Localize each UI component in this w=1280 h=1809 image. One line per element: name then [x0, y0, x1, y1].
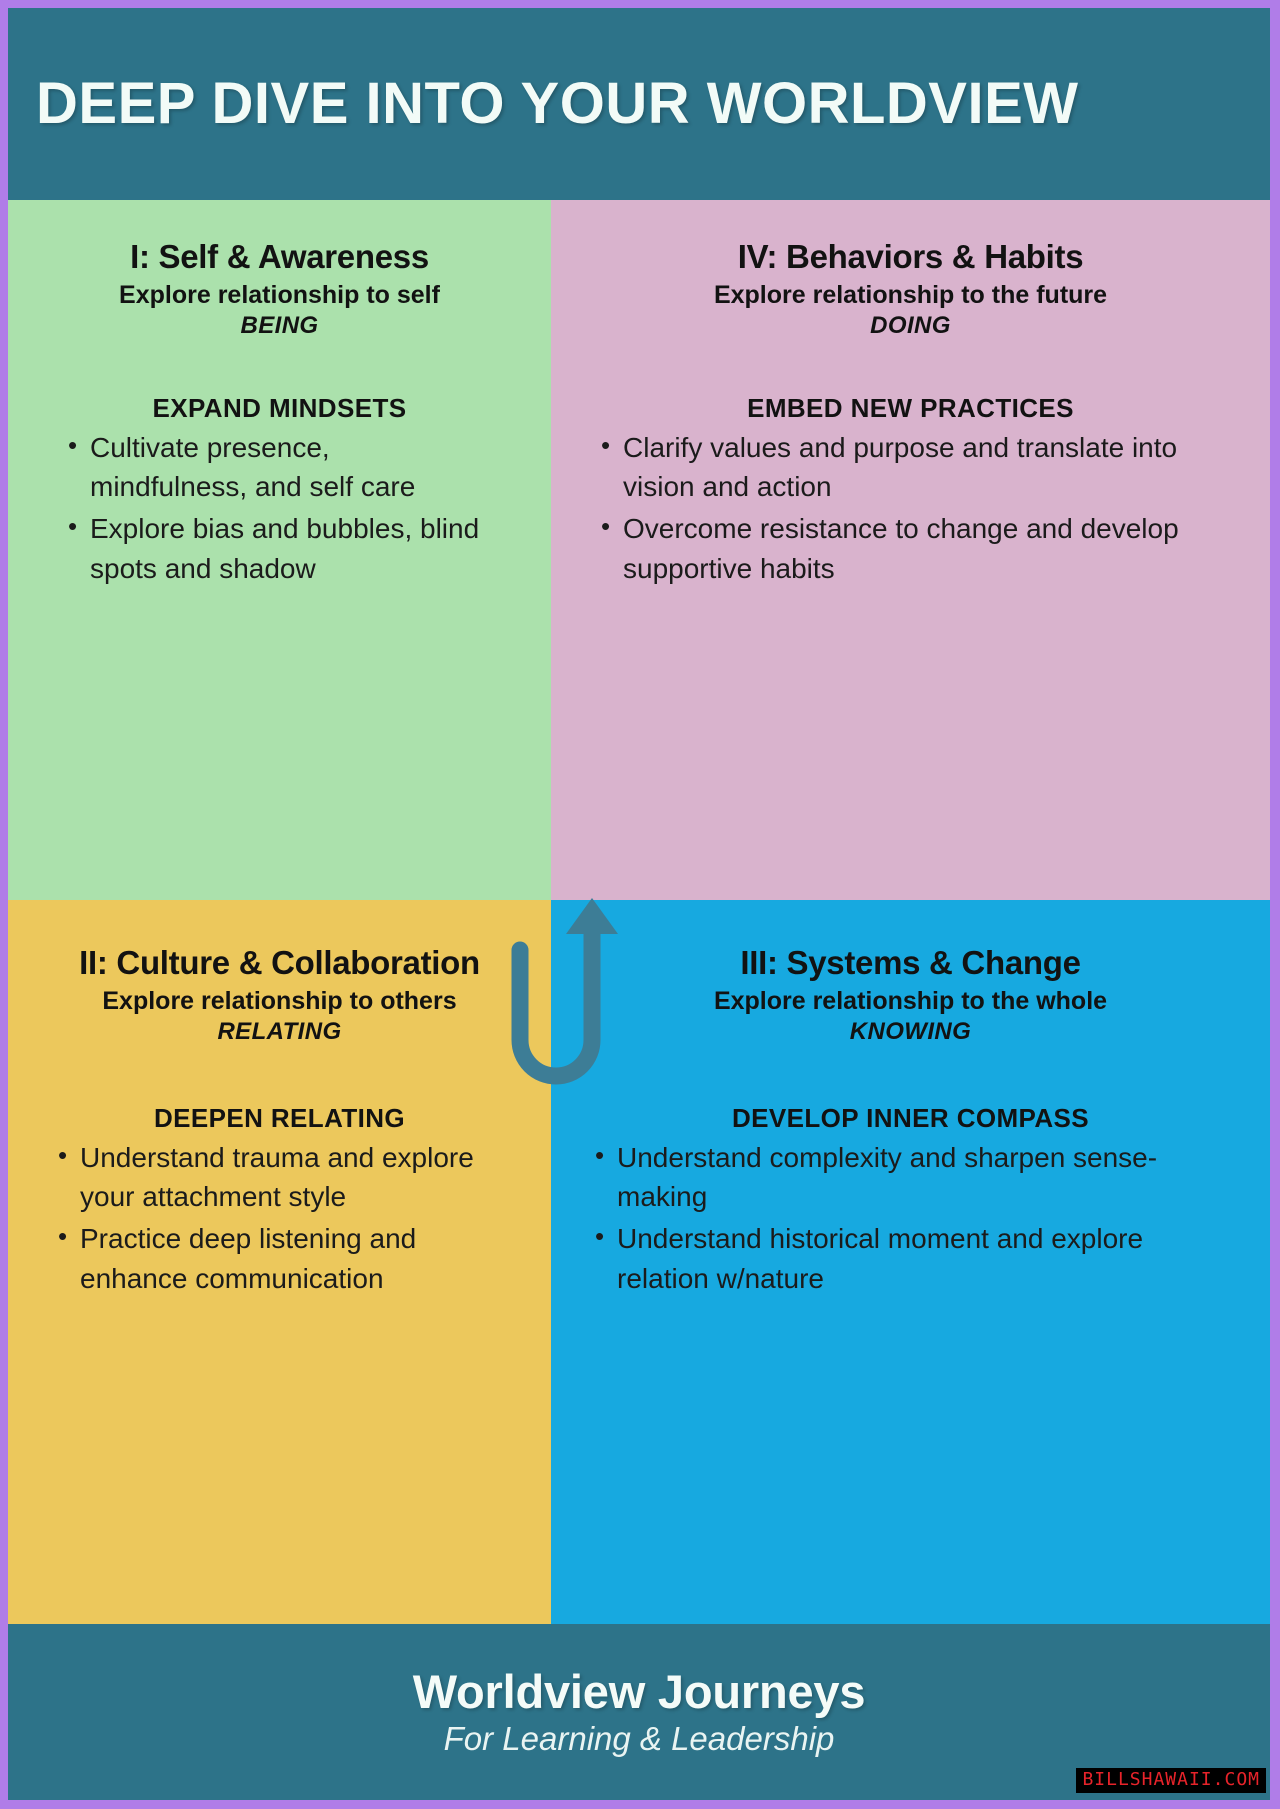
quadrant-action-heading: DEEPEN RELATING: [26, 1103, 533, 1134]
quadrant-action-heading: EMBED NEW PRACTICES: [569, 393, 1252, 424]
quadrant-mode: KNOWING: [569, 1018, 1252, 1047]
quadrant-self-and-awareness: I: Self & Awareness Explore relationship…: [8, 200, 551, 900]
header-band: DEEP DIVE INTO YOUR WORLDVIEW: [8, 8, 1270, 200]
quadrant-title: I: Self & Awareness: [26, 238, 533, 276]
quadrant-mode: RELATING: [26, 1018, 533, 1047]
quadrant-grid: I: Self & Awareness Explore relationship…: [8, 200, 1270, 1624]
quadrant-culture-and-collaboration: II: Culture & Collaboration Explore rela…: [8, 900, 551, 1624]
list-item: Understand trauma and explore your attac…: [46, 1138, 507, 1218]
quadrant-bullet-list: Clarify values and purpose and translate…: [589, 428, 1230, 589]
list-item: Cultivate presence, mindfulness, and sel…: [56, 428, 493, 508]
quadrant-bullet-list: Cultivate presence, mindfulness, and sel…: [56, 428, 493, 589]
worldview-infographic: DEEP DIVE INTO YOUR WORLDVIEW I: Self & …: [8, 8, 1270, 1800]
quadrant-bullet-list: Understand trauma and explore your attac…: [46, 1138, 507, 1299]
quadrant-bullet-list: Understand complexity and sharpen sense-…: [583, 1138, 1236, 1299]
brand-name: Worldview Journeys: [413, 1667, 866, 1716]
quadrant-action-heading: DEVELOP INNER COMPASS: [569, 1103, 1252, 1134]
list-item: Understand historical moment and explore…: [583, 1219, 1236, 1299]
poster-outer-frame: DEEP DIVE INTO YOUR WORLDVIEW I: Self & …: [0, 0, 1280, 1809]
brand-tagline: For Learning & Leadership: [444, 1722, 835, 1757]
quadrant-mode: BEING: [26, 312, 533, 341]
quadrant-systems-and-change: III: Systems & Change Explore relationsh…: [551, 900, 1270, 1624]
list-item: Overcome resistance to change and develo…: [589, 509, 1230, 589]
quadrant-action-heading: EXPAND MINDSETS: [26, 393, 533, 424]
page-title: DEEP DIVE INTO YOUR WORLDVIEW: [36, 74, 1079, 135]
quadrant-title: II: Culture & Collaboration: [26, 944, 533, 982]
list-item: Explore bias and bubbles, blind spots an…: [56, 509, 493, 589]
quadrant-behaviors-and-habits: IV: Behaviors & Habits Explore relations…: [551, 200, 1270, 900]
list-item: Understand complexity and sharpen sense-…: [583, 1138, 1236, 1218]
watermark-badge: BILLSHAWAII.COM: [1076, 1768, 1266, 1793]
quadrant-title: III: Systems & Change: [569, 944, 1252, 982]
quadrant-subtitle: Explore relationship to others: [26, 986, 533, 1016]
list-item: Practice deep listening and enhance comm…: [46, 1219, 507, 1299]
quadrant-title: IV: Behaviors & Habits: [569, 238, 1252, 276]
list-item: Clarify values and purpose and translate…: [589, 428, 1230, 508]
quadrant-subtitle: Explore relationship to the whole: [569, 986, 1252, 1016]
quadrant-subtitle: Explore relationship to self: [26, 280, 533, 310]
quadrant-subtitle: Explore relationship to the future: [569, 280, 1252, 310]
quadrant-mode: DOING: [569, 312, 1252, 341]
